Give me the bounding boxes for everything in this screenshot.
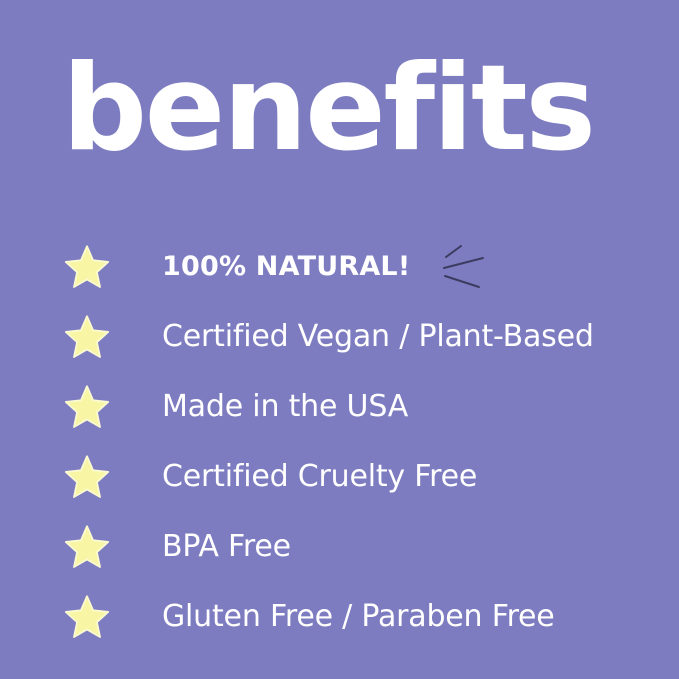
list-item-label: Made in the USA [162,390,408,424]
list-item-label: Certified Vegan / Plant-Based [162,320,594,354]
benefits-list: 100% NATURAL! Certified Vegan / Plant-Ba… [0,232,679,652]
benefits-poster: benefits 100% NATURAL! Certifi [0,0,679,679]
star-icon [64,244,110,290]
list-item-bullet [0,232,162,302]
emphasis-burst-icon [441,243,489,291]
list-item-bullet [0,372,162,442]
list-item-label: 100% NATURAL! [162,250,410,284]
star-icon [64,384,110,430]
list-item: 100% NATURAL! [0,232,679,302]
star-icon [64,454,110,500]
list-item-bullet [0,442,162,512]
list-item-label: Gluten Free / Paraben Free [162,600,555,634]
list-item-bullet [0,582,162,652]
list-item-label: BPA Free [162,530,291,564]
star-icon [64,594,110,640]
list-item-bullet [0,512,162,582]
list-item: Certified Cruelty Free [0,442,679,512]
star-icon [64,314,110,360]
list-item-label: Certified Cruelty Free [162,460,477,494]
star-icon [64,524,110,570]
list-item: Gluten Free / Paraben Free [0,582,679,652]
list-item: Made in the USA [0,372,679,442]
list-item: BPA Free [0,512,679,582]
list-item-bullet [0,302,162,372]
page-title: benefits [62,54,622,164]
list-item: Certified Vegan / Plant-Based [0,302,679,372]
